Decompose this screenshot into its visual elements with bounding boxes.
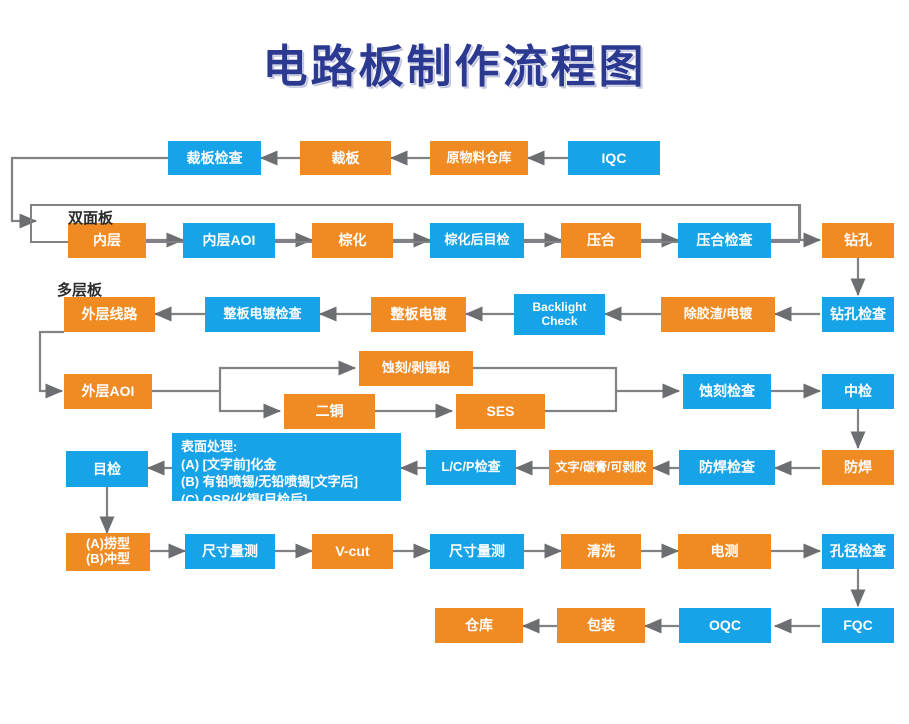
node-inner-layer[interactable]: 内层 bbox=[68, 223, 146, 258]
node-hole-size-check[interactable]: 孔径检查 bbox=[822, 534, 894, 569]
node-dimension-measure-2[interactable]: 尺寸量测 bbox=[430, 534, 524, 569]
node-ses[interactable]: SES bbox=[456, 394, 545, 429]
node-cut-board[interactable]: 裁板 bbox=[300, 141, 391, 175]
surface-treatment-option-b: (B) 有铅喷锡/无铅喷锡[文字后] bbox=[181, 473, 393, 491]
node-desmear-plating[interactable]: 除胶渣/电镀 bbox=[661, 297, 775, 332]
node-solder-mask-check[interactable]: 防焊检查 bbox=[679, 450, 775, 485]
node-routing-punch[interactable]: (A)捞型 (B)冲型 bbox=[66, 533, 150, 571]
node-oqc[interactable]: OQC bbox=[679, 608, 771, 643]
node-mid-check[interactable]: 中检 bbox=[822, 374, 894, 409]
surface-treatment-option-a: (A) [文字前]化金 bbox=[181, 456, 393, 474]
group-label-double-sided: 双面板 bbox=[68, 207, 113, 228]
node-backlight-check[interactable]: Backlight Check bbox=[514, 294, 605, 335]
node-second-copper[interactable]: 二铜 bbox=[284, 394, 375, 429]
node-outer-layer-circuit[interactable]: 外层线路 bbox=[64, 297, 155, 332]
node-warehouse[interactable]: 仓库 bbox=[435, 608, 523, 643]
node-panel-plating-check[interactable]: 整板电镀检查 bbox=[205, 297, 320, 332]
node-drilling-check[interactable]: 钻孔检查 bbox=[822, 297, 894, 332]
group-label-multi-layer: 多层板 bbox=[57, 279, 102, 300]
node-lamination-check[interactable]: 压合检查 bbox=[678, 223, 771, 258]
surface-treatment-option-c: (C) OSP/化锡[目检后] bbox=[181, 491, 393, 509]
node-iqc[interactable]: IQC bbox=[568, 141, 660, 175]
node-cut-board-check[interactable]: 裁板检查 bbox=[168, 141, 261, 175]
routing-punch-line-2: (B)冲型 bbox=[86, 552, 130, 567]
node-visual-check[interactable]: 目检 bbox=[66, 451, 148, 487]
node-electrical-test[interactable]: 电测 bbox=[678, 534, 771, 569]
flowchart-canvas: 电路板制作流程图 bbox=[0, 0, 909, 724]
backlight-check-line-2: Check bbox=[541, 315, 577, 329]
node-inner-layer-aoi[interactable]: 内层AOI bbox=[183, 223, 275, 258]
node-surface-treatment[interactable]: 表面处理: (A) [文字前]化金 (B) 有铅喷锡/无铅喷锡[文字后] (C)… bbox=[172, 433, 401, 501]
routing-punch-line-1: (A)捞型 bbox=[86, 537, 130, 552]
node-outer-layer-aoi[interactable]: 外层AOI bbox=[64, 374, 152, 409]
node-cleaning[interactable]: 清洗 bbox=[561, 534, 641, 569]
node-etch-strip[interactable]: 蚀刻/剥锡铅 bbox=[359, 351, 473, 386]
node-legend-carbon-peelable[interactable]: 文字/碳膏/可剥胶 bbox=[549, 450, 653, 485]
node-lcp-check[interactable]: L/C/P检查 bbox=[426, 450, 516, 485]
surface-treatment-heading: 表面处理: bbox=[181, 438, 393, 456]
node-dimension-measure-1[interactable]: 尺寸量测 bbox=[185, 534, 275, 569]
node-drilling[interactable]: 钻孔 bbox=[822, 223, 894, 258]
node-post-browning-check[interactable]: 棕化后目检 bbox=[430, 223, 524, 258]
node-panel-plating[interactable]: 整板电镀 bbox=[371, 297, 466, 332]
node-solder-mask[interactable]: 防焊 bbox=[822, 450, 894, 485]
node-v-cut[interactable]: V-cut bbox=[312, 534, 393, 569]
node-fqc[interactable]: FQC bbox=[822, 608, 894, 643]
backlight-check-line-1: Backlight bbox=[532, 301, 586, 315]
node-lamination[interactable]: 压合 bbox=[561, 223, 641, 258]
node-raw-material-warehouse[interactable]: 原物料仓库 bbox=[430, 141, 528, 175]
node-browning[interactable]: 棕化 bbox=[312, 223, 393, 258]
node-etch-check[interactable]: 蚀刻检查 bbox=[683, 374, 771, 409]
node-packaging[interactable]: 包装 bbox=[557, 608, 645, 643]
